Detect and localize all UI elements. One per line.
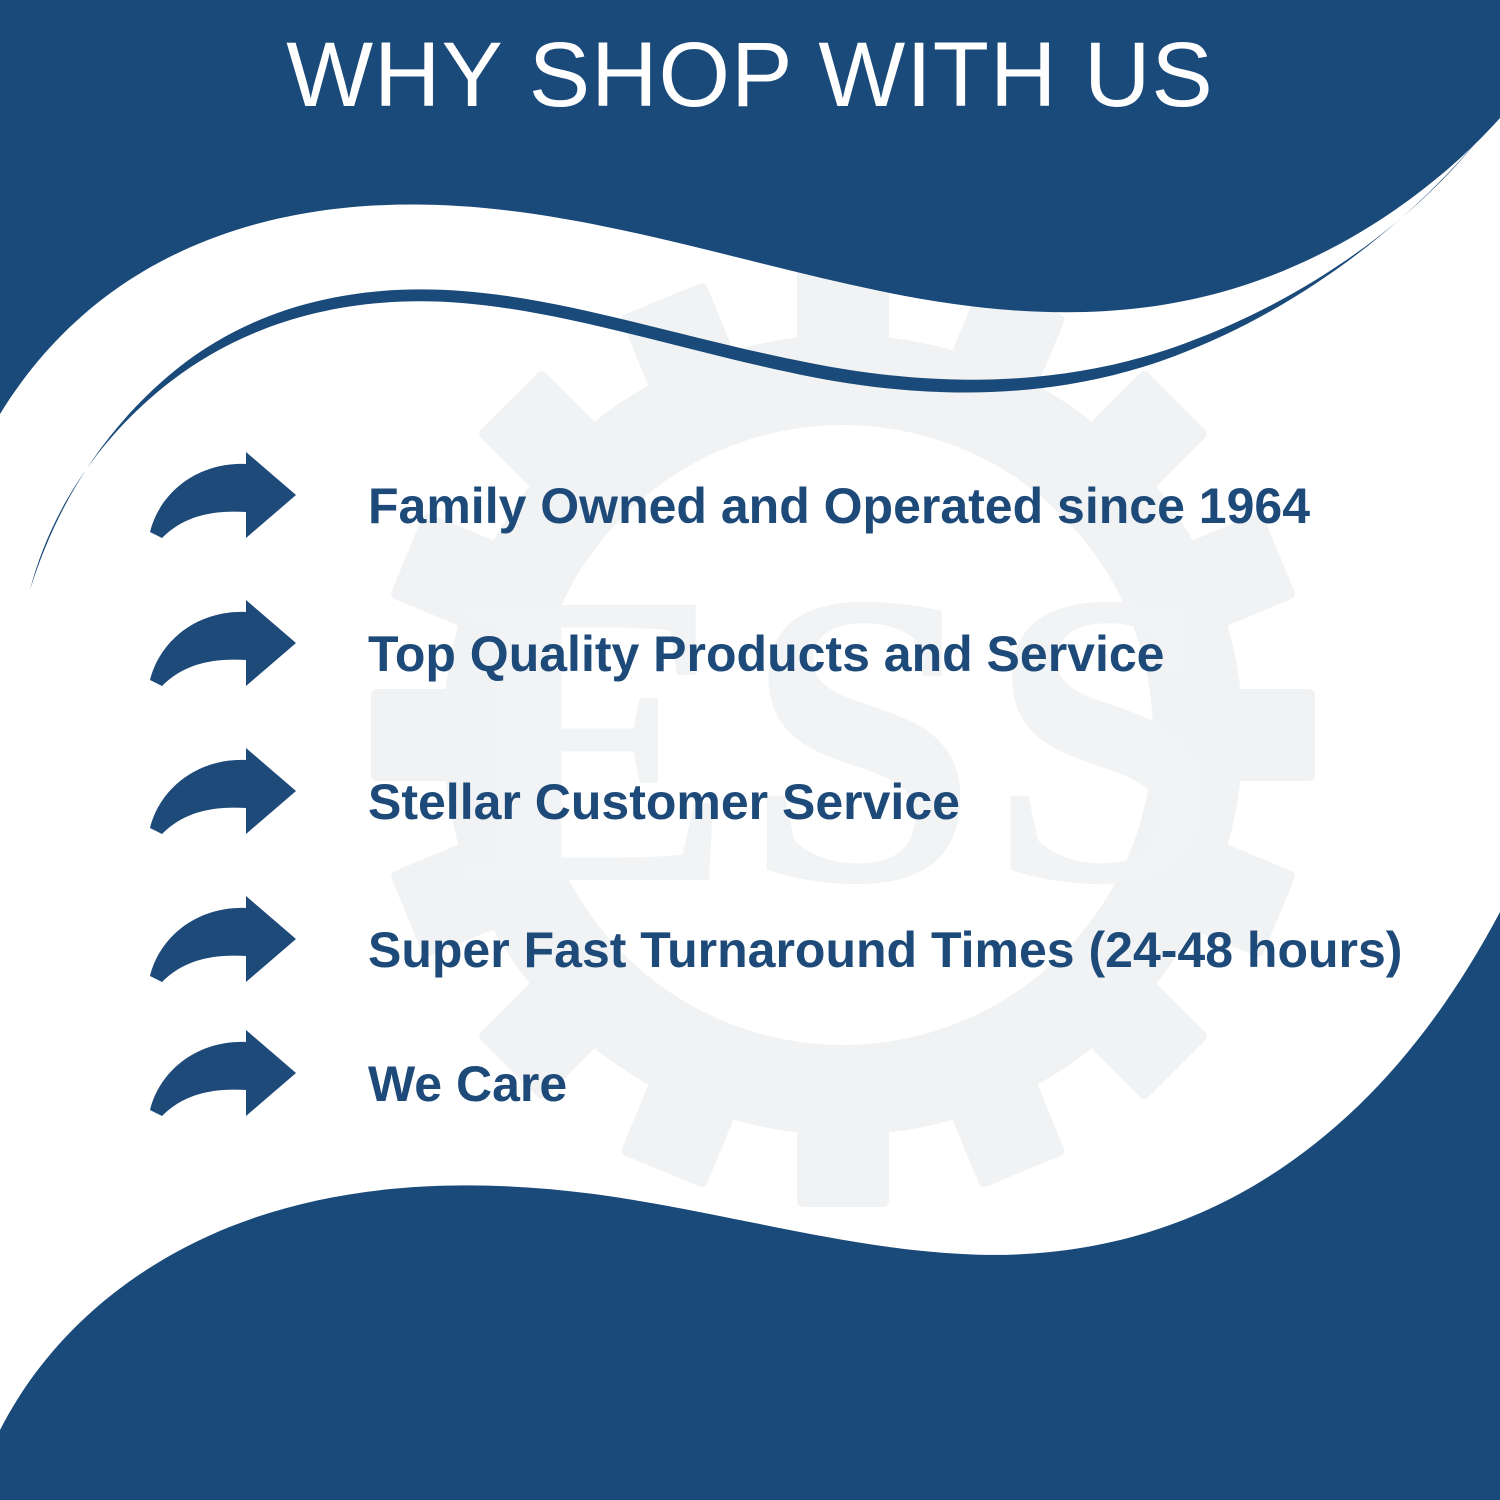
benefit-label: Super Fast Turnaround Times (24-48 hours… (368, 924, 1402, 977)
bottom-wave-crescent (26, 1096, 1500, 1500)
curved-right-arrow-icon (150, 1030, 298, 1130)
benefit-label: Stellar Customer Service (368, 776, 960, 829)
benefit-label: We Care (368, 1058, 567, 1111)
page-title-banner: WHY SHOP WITH US (0, 0, 1500, 150)
benefits-list: Family Owned and Operated since 1964 Top… (150, 432, 1450, 1144)
curved-right-arrow-icon (150, 896, 298, 996)
benefit-item: Family Owned and Operated since 1964 (150, 432, 1450, 580)
benefit-label: Family Owned and Operated since 1964 (368, 480, 1310, 533)
benefit-label: Top Quality Products and Service (368, 628, 1164, 681)
page-title: WHY SHOP WITH US (286, 29, 1214, 121)
why-shop-with-us-poster: ESS WHY SHOP WITH US Family Owned an (0, 0, 1500, 1500)
curved-right-arrow-icon (150, 452, 298, 552)
benefit-item: We Care (150, 1024, 1450, 1144)
benefit-item: Top Quality Products and Service (150, 580, 1450, 728)
curved-right-arrow-icon (150, 600, 298, 700)
curved-right-arrow-icon (150, 748, 298, 848)
benefit-item: Super Fast Turnaround Times (24-48 hours… (150, 876, 1450, 1024)
benefit-item: Stellar Customer Service (150, 728, 1450, 876)
